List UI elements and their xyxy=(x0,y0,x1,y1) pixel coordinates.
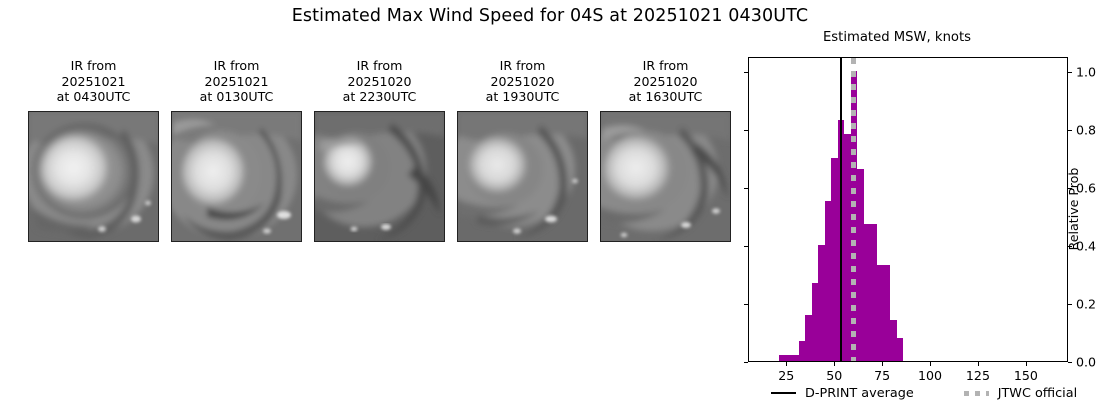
ir-panel-caption: IR from 20251021 at 0130UTC xyxy=(200,58,274,105)
histogram-bar xyxy=(870,224,877,361)
dprint-average-line xyxy=(840,58,842,361)
histogram-bar xyxy=(779,355,786,361)
y-axis-tick xyxy=(744,72,748,73)
y-axis-tick-label: 1.0 xyxy=(1076,64,1096,79)
ir-panel-2: IR from 20251020 at 2230UTC xyxy=(308,58,451,288)
ir-image-2 xyxy=(314,111,445,242)
msw-histogram-chart: Estimated MSW, knots 2550751001251500.00… xyxy=(737,30,1087,409)
histogram-bar xyxy=(825,201,832,361)
ir-panel-1: IR from 20251021 at 0130UTC xyxy=(165,58,308,288)
ir-panel-4: IR from 20251020 at 1630UTC xyxy=(594,58,737,288)
x-axis-tick xyxy=(882,362,883,366)
y-axis-tick xyxy=(1068,130,1072,131)
plot-frame xyxy=(748,57,1068,362)
ir-panel-caption: IR from 20251021 at 0430UTC xyxy=(57,58,131,105)
ir-image-1 xyxy=(171,111,302,242)
y-axis-tick xyxy=(744,304,748,305)
ir-panel-caption: IR from 20251020 at 2230UTC xyxy=(343,58,417,105)
histogram-bar xyxy=(831,158,838,361)
ir-satellite-image xyxy=(600,111,731,242)
ir-panel-caption: IR from 20251020 at 1930UTC xyxy=(486,58,560,105)
chart-title: Estimated MSW, knots xyxy=(737,30,1057,45)
histogram-bar xyxy=(799,341,806,361)
ir-image-0 xyxy=(28,111,159,242)
x-axis-tick xyxy=(930,362,931,366)
ir-image-panel-strip: IR from 20251021 at 0430UTC xyxy=(22,58,738,288)
histogram-bar xyxy=(818,245,825,361)
ir-panel-3: IR from 20251020 at 1930UTC xyxy=(451,58,594,288)
histogram-bar xyxy=(864,224,871,361)
y-axis-tick xyxy=(744,246,748,247)
histogram-bar xyxy=(786,355,793,361)
jtwc-official-line xyxy=(851,58,856,361)
plot-inner xyxy=(749,58,1067,361)
y-axis-tick-label: 0.2 xyxy=(1076,296,1096,311)
x-axis-tick xyxy=(978,362,979,366)
y-axis-label: Relative Prob xyxy=(1066,168,1081,251)
y-axis-tick xyxy=(744,130,748,131)
ir-image-4 xyxy=(600,111,731,242)
ir-satellite-image xyxy=(314,111,445,242)
ir-panel-0: IR from 20251021 at 0430UTC xyxy=(22,58,165,288)
solid-line-icon xyxy=(771,392,796,394)
histogram-bar xyxy=(792,355,799,361)
histogram-bar xyxy=(812,283,819,361)
histogram-bar xyxy=(857,169,864,361)
histogram-bar xyxy=(890,320,897,361)
y-axis-tick xyxy=(1068,72,1072,73)
y-axis-tick xyxy=(744,362,748,363)
x-axis-tick xyxy=(834,362,835,366)
x-axis-tick xyxy=(786,362,787,366)
ir-satellite-image xyxy=(28,111,159,242)
legend-label: D-PRINT average xyxy=(805,386,914,401)
y-axis-tick xyxy=(744,188,748,189)
histogram-bar xyxy=(805,315,812,361)
ir-image-3 xyxy=(457,111,588,242)
page-title: Estimated Max Wind Speed for 04S at 2025… xyxy=(0,6,1100,26)
y-axis-tick-label: 0.0 xyxy=(1076,355,1096,370)
y-axis-tick xyxy=(1068,304,1072,305)
ir-satellite-image xyxy=(457,111,588,242)
y-axis-tick-label: 0.8 xyxy=(1076,122,1096,137)
chart-legend: D-PRINT average JTWC official xyxy=(740,381,1070,405)
legend-label: JTWC official xyxy=(998,386,1077,401)
dotted-line-icon xyxy=(964,391,989,396)
ir-panel-caption: IR from 20251020 at 1630UTC xyxy=(629,58,703,105)
y-axis-tick xyxy=(1068,362,1072,363)
histogram-bar xyxy=(897,338,904,361)
legend-entry-jtwc-official: JTWC official xyxy=(964,386,1077,401)
x-axis-tick xyxy=(1026,362,1027,366)
histogram-bar xyxy=(884,265,891,361)
legend-entry-dprint-average: D-PRINT average xyxy=(771,386,914,401)
ir-satellite-image xyxy=(171,111,302,242)
